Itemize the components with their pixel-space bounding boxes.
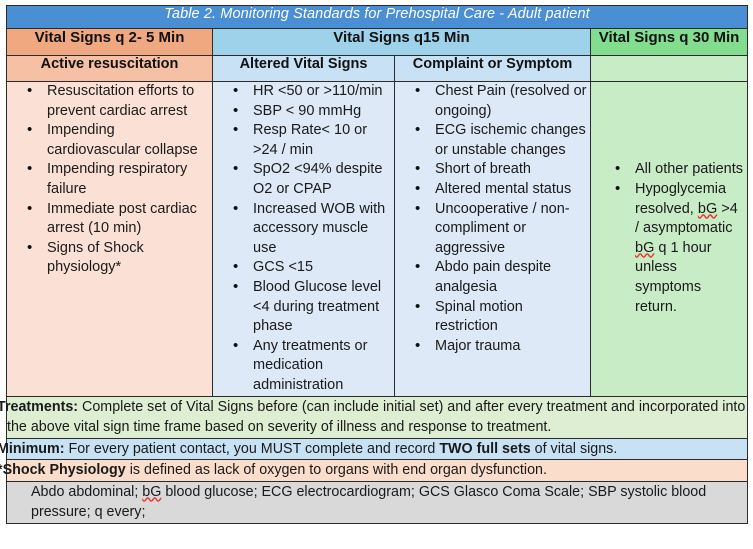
list-item: ECG ischemic changes or unstable changes <box>421 121 588 160</box>
list-item: Signs of Shock physiology* <box>33 239 210 278</box>
sub-header-row: Active resuscitation Altered Vital Signs… <box>7 56 748 82</box>
list-item: Short of breath <box>421 160 588 180</box>
list-item: All other patients <box>621 160 745 180</box>
monitoring-standards-table-container: Table 2. Monitoring Standards for Prehos… <box>0 0 753 549</box>
cell-active-resuscitation: Resuscitation efforts to prevent cardiac… <box>7 82 213 397</box>
table-body-row: Resuscitation efforts to prevent cardiac… <box>7 82 748 397</box>
group-header-q2-5min: Vital Signs q 2- 5 Min <box>7 29 213 56</box>
note-abbreviations: Abdo abdominal; bG blood glucose; ECG el… <box>7 481 748 523</box>
note-row-shock: *Shock Physiology is defined as lack of … <box>7 460 748 482</box>
list-item: Altered mental status <box>421 180 588 200</box>
list-item: Blood Glucose level <4 during treatment … <box>239 278 392 337</box>
group-header-q30min: Vital Signs q 30 Min <box>591 29 748 56</box>
list-active-resuscitation: Resuscitation efforts to prevent cardiac… <box>7 82 212 278</box>
list-item: GCS <15 <box>239 258 392 278</box>
note-minimum: Minimum: For every patient contact, you … <box>7 438 748 460</box>
list-item: Spinal motion restriction <box>421 298 588 337</box>
list-item: Uncooperative / non-compliment or aggres… <box>421 200 588 259</box>
note-shock-physiology: *Shock Physiology is defined as lack of … <box>7 460 748 482</box>
sub-header-altered-vital-signs: Altered Vital Signs <box>213 56 395 82</box>
cell-q30-min: All other patients Hypoglycemia resolved… <box>591 82 748 397</box>
spellcheck-underline: bG <box>635 240 654 256</box>
note-minimum-text-1: For every patient contact, you MUST comp… <box>65 441 440 457</box>
list-item: Major trauma <box>421 337 588 357</box>
list-item: SBP < 90 mmHg <box>239 102 392 122</box>
list-item: Impending respiratory failure <box>33 160 210 199</box>
list-altered-vital-signs: HR <50 or >110/min SBP < 90 mmHg Resp Ra… <box>213 82 394 396</box>
cell-altered-vital-signs: HR <50 or >110/min SBP < 90 mmHg Resp Ra… <box>213 82 395 397</box>
list-item: Immediate post cardiac arrest (10 min) <box>33 200 210 239</box>
cell-complaint-or-symptom: Chest Pain (resolved or ongoing) ECG isc… <box>395 82 591 397</box>
list-item: Resuscitation efforts to prevent cardiac… <box>33 82 210 121</box>
sub-header-q30min-blank <box>591 56 748 82</box>
list-item: Any treatments or medication administrat… <box>239 337 392 396</box>
table-title: Table 2. Monitoring Standards for Prehos… <box>7 6 748 29</box>
spellcheck-underline: bG <box>698 201 717 217</box>
note-treatments: Treatments: Complete set of Vital Signs … <box>7 396 748 438</box>
list-item: Resp Rate< 10 or >24 / min <box>239 121 392 160</box>
list-item: HR <50 or >110/min <box>239 82 392 102</box>
group-header-q15min: Vital Signs q15 Min <box>213 29 591 56</box>
list-item: Abdo pain despite analgesia <box>421 258 588 297</box>
sub-header-active-resuscitation: Active resuscitation <box>7 56 213 82</box>
list-q30-min: All other patients Hypoglycemia resolved… <box>591 160 747 317</box>
sub-header-complaint-or-symptom: Complaint or Symptom <box>395 56 591 82</box>
monitoring-standards-table: Table 2. Monitoring Standards for Prehos… <box>6 5 748 524</box>
note-row-treatments: Treatments: Complete set of Vital Signs … <box>7 396 748 438</box>
list-item-hypoglycemia: Hypoglycemia resolved, bG >4 / asymptoma… <box>621 180 745 317</box>
list-item: Chest Pain (resolved or ongoing) <box>421 82 588 121</box>
list-item: Increased WOB with accessory muscle use <box>239 200 392 259</box>
list-complaint-or-symptom: Chest Pain (resolved or ongoing) ECG isc… <box>395 82 590 356</box>
note-shock-label: *Shock Physiology <box>0 462 126 478</box>
note-shock-text: is defined as lack of oxygen to organs w… <box>126 462 547 478</box>
list-item: Impending cardiovascular collapse <box>33 121 210 160</box>
note-minimum-bold-2: TWO full sets <box>439 441 530 457</box>
note-treatments-label: Treatments: <box>0 399 78 415</box>
group-header-row: Vital Signs q 2- 5 Min Vital Signs q15 M… <box>7 29 748 56</box>
note-minimum-label: Minimum: <box>0 441 65 457</box>
note-row-minimum: Minimum: For every patient contact, you … <box>7 438 748 460</box>
note-minimum-text-3: of vital signs. <box>531 441 618 457</box>
spellcheck-underline: bG <box>142 484 161 500</box>
list-item: SpO2 <94% despite O2 or CPAP <box>239 160 392 199</box>
note-row-abbreviations: Abdo abdominal; bG blood glucose; ECG el… <box>7 481 748 523</box>
note-treatments-text: Complete set of Vital Signs before (can … <box>7 399 745 436</box>
table-title-row: Table 2. Monitoring Standards for Prehos… <box>7 6 748 29</box>
